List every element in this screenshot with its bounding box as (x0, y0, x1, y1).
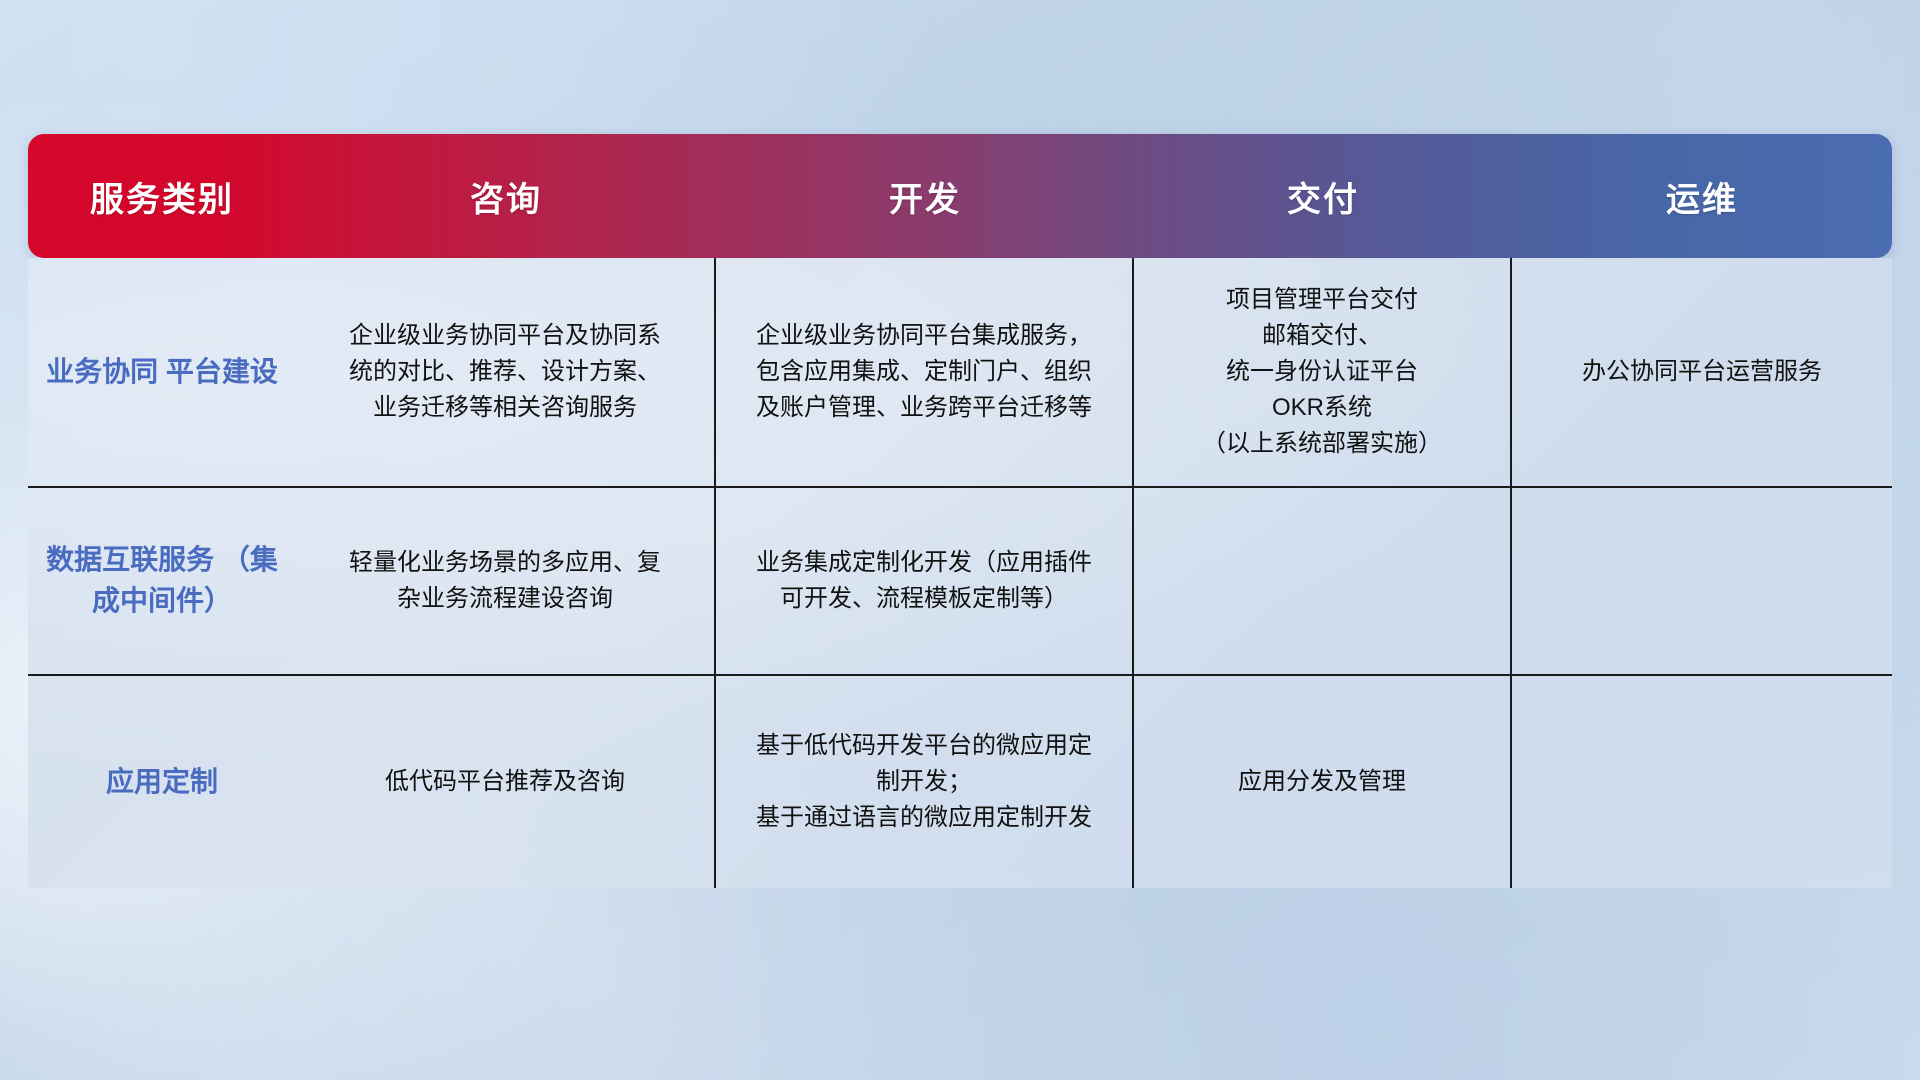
cell-development: 企业级业务协同平台集成服务， 包含应用集成、定制门户、组织 及账户管理、业务跨平… (716, 258, 1134, 486)
cell-delivery: 项目管理平台交付 邮箱交付、 统一身份认证平台 OKR系统 （以上系统部署实施） (1134, 258, 1512, 486)
cell-operations (1512, 676, 1892, 888)
cell-development: 基于低代码开发平台的微应用定 制开发； 基于通过语言的微应用定制开发 (716, 676, 1134, 888)
header-development: 开发 (716, 134, 1134, 258)
header-consulting: 咨询 (296, 134, 716, 258)
row-category-cell: 业务协同 平台建设 (28, 258, 296, 486)
table-row: 数据互联服务 （集成中间件） 轻量化业务场景的多应用、复 杂业务流程建设咨询 业… (28, 488, 1892, 676)
cell-operations: 办公协同平台运营服务 (1512, 258, 1892, 486)
cell-consulting: 低代码平台推荐及咨询 (296, 676, 716, 888)
cell-delivery-text: 项目管理平台交付 邮箱交付、 统一身份认证平台 OKR系统 （以上系统部署实施） (1202, 282, 1442, 462)
cell-consulting-text: 低代码平台推荐及咨询 (385, 764, 625, 800)
row-category-cell: 数据互联服务 （集成中间件） (28, 488, 296, 674)
cell-development-text: 企业级业务协同平台集成服务， 包含应用集成、定制门户、组织 及账户管理、业务跨平… (756, 318, 1092, 426)
service-matrix-table: 服务类别 咨询 开发 交付 运维 业务协同 平台建设 (28, 134, 1892, 888)
header-service-category: 服务类别 (28, 134, 296, 258)
header-consulting-label: 咨询 (470, 172, 542, 221)
cell-delivery-text: 应用分发及管理 (1238, 764, 1406, 800)
header-development-label: 开发 (889, 172, 961, 221)
cell-development: 业务集成定制化开发（应用插件 可开发、流程模板定制等） (716, 488, 1134, 674)
cell-development-text: 基于低代码开发平台的微应用定 制开发； 基于通过语言的微应用定制开发 (756, 728, 1092, 836)
cell-consulting-text: 轻量化业务场景的多应用、复 杂业务流程建设咨询 (349, 545, 661, 617)
header-operations: 运维 (1512, 134, 1892, 258)
cell-delivery: 应用分发及管理 (1134, 676, 1512, 888)
cell-delivery (1134, 488, 1512, 674)
header-delivery: 交付 (1134, 134, 1512, 258)
header-service-category-label: 服务类别 (90, 172, 234, 221)
row-category-label: 业务协同 平台建设 (46, 352, 278, 393)
row-category-label: 应用定制 (106, 762, 218, 803)
cell-consulting: 企业级业务协同平台及协同系 统的对比、推荐、设计方案、 业务迁移等相关咨询服务 (296, 258, 716, 486)
cell-development-text: 业务集成定制化开发（应用插件 可开发、流程模板定制等） (756, 545, 1092, 617)
table-row: 应用定制 低代码平台推荐及咨询 基于低代码开发平台的微应用定 制开发； 基于通过… (28, 676, 1892, 888)
row-category-label: 数据互联服务 （集成中间件） (42, 540, 282, 621)
cell-consulting-text: 企业级业务协同平台及协同系 统的对比、推荐、设计方案、 业务迁移等相关咨询服务 (349, 318, 661, 426)
table-header-row: 服务类别 咨询 开发 交付 运维 (28, 134, 1892, 258)
header-operations-label: 运维 (1666, 172, 1738, 221)
table-body: 业务协同 平台建设 企业级业务协同平台及协同系 统的对比、推荐、设计方案、 业务… (28, 258, 1892, 888)
cell-consulting: 轻量化业务场景的多应用、复 杂业务流程建设咨询 (296, 488, 716, 674)
cell-operations-text: 办公协同平台运营服务 (1582, 354, 1822, 390)
table-row: 业务协同 平台建设 企业级业务协同平台及协同系 统的对比、推荐、设计方案、 业务… (28, 258, 1892, 488)
cell-operations (1512, 488, 1892, 674)
slide-canvas: 服务类别 咨询 开发 交付 运维 业务协同 平台建设 (0, 0, 1920, 1080)
header-delivery-label: 交付 (1287, 172, 1359, 221)
row-category-cell: 应用定制 (28, 676, 296, 888)
